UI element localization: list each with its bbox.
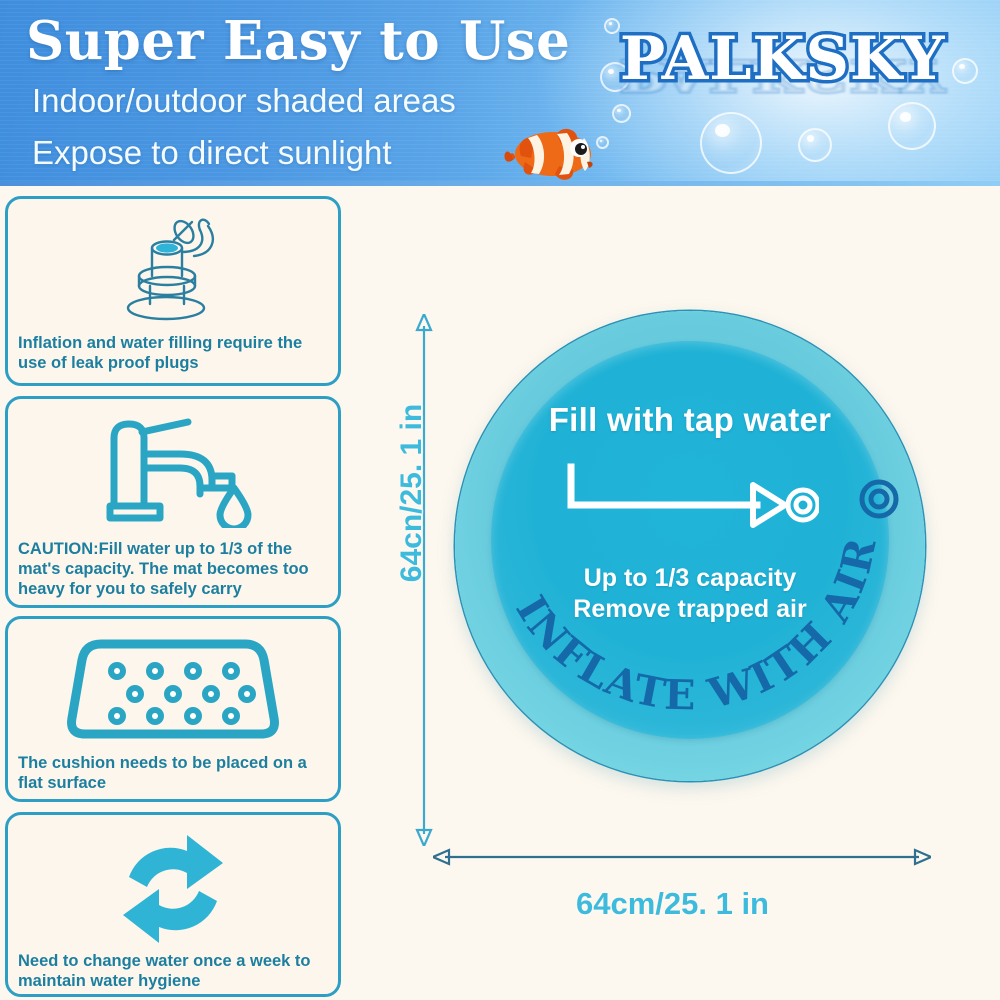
brand-logo: PALKSKY PALKSKY PALKSKY [620,24,980,164]
header-subline-1: Indoor/outdoor shaded areas [32,82,456,120]
mat-arc-text-path: INFLATE WITH AIR [506,532,886,719]
header-headline: Super Easy to Use [26,10,570,72]
vertical-dimension-label: 64cn/25. 1 in [395,404,429,582]
clownfish-icon [495,118,605,186]
svg-text:INFLATE WITH AIR: INFLATE WITH AIR [506,532,886,719]
valve-target-icon [862,482,896,516]
info-card-caution-fill: CAUTION:Fill water up to 1/3 of the mat'… [5,396,341,608]
dotted-mat-icon [8,635,338,743]
brand-logo-text: PALKSKY [620,24,945,94]
header-banner: Super Easy to Use Indoor/outdoor shaded … [0,0,1000,186]
inflatable-mat-outer: Fill with tap water Up to 1/3 capacity R… [455,311,925,781]
horizontal-dimension-arrow [433,846,931,868]
info-card-plugs-text: Inflation and water filling require the … [18,333,330,373]
info-card-change-water-text: Need to change water once a week to main… [18,951,330,991]
bubble-icon [604,18,620,34]
info-card-flat-surface: The cushion needs to be placed on a flat… [5,616,341,802]
info-card-flat-surface-text: The cushion needs to be placed on a flat… [18,753,330,793]
info-card-plugs: Inflation and water filling require the … [5,196,341,386]
header-subline-2: Expose to direct sunlight [32,134,392,172]
horizontal-dimension-label: 64cm/25. 1 in [345,886,1000,922]
mat-arc-text: INFLATE WITH AIR [455,311,925,781]
infographic-page: Super Easy to Use Indoor/outdoor shaded … [0,0,1000,1000]
info-card-change-water: Need to change water once a week to main… [5,812,341,997]
info-card-caution-fill-text: CAUTION:Fill water up to 1/3 of the mat'… [18,539,330,599]
product-dimension-diagram: 64cn/25. 1 in Fill with tap water Up to … [345,186,1000,1000]
recycle-arrows-icon [8,833,338,945]
valve-plug-icon [8,213,338,323]
faucet-dripping-icon [8,409,338,529]
